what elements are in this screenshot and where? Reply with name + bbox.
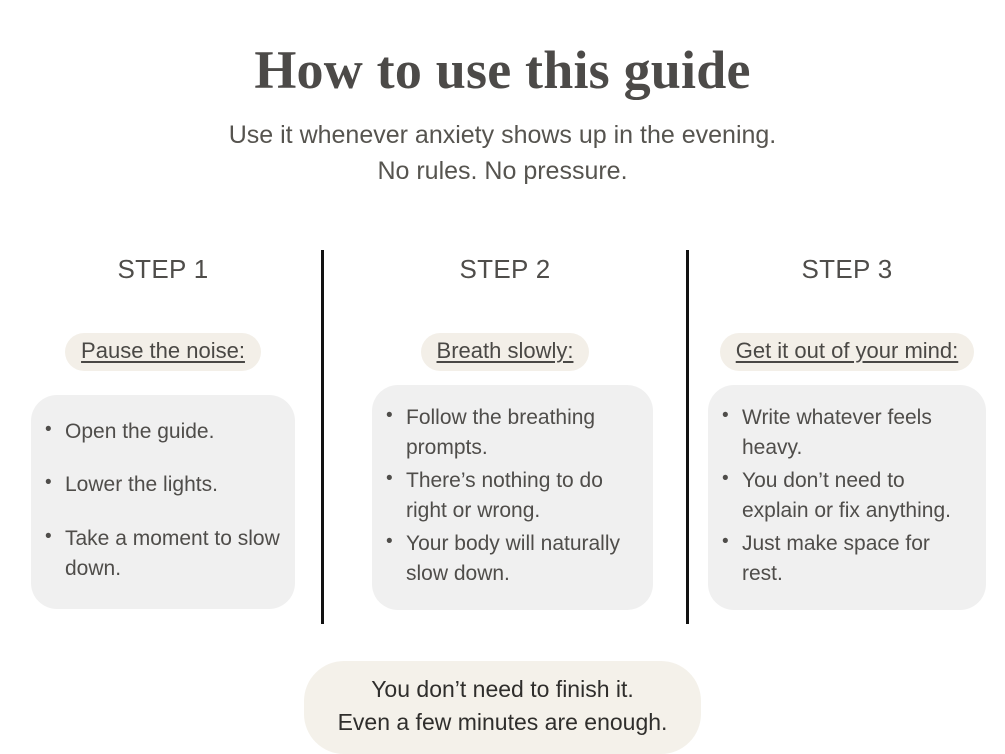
column-divider-1 <box>321 250 324 624</box>
column-divider-2 <box>686 250 689 624</box>
step-3-label: Get it out of your mind: <box>720 333 975 371</box>
list-item: Follow the breathing prompts. <box>406 403 639 464</box>
step-2-label: Breath slowly: <box>421 333 590 371</box>
step-1-list: Open the guide. Lower the lights. Take a… <box>31 417 295 585</box>
step-1-card: Open the guide. Lower the lights. Take a… <box>31 395 295 609</box>
step-column-1: STEP 1 Pause the noise: Open the guide. … <box>8 248 318 609</box>
step-2-label-row: Breath slowly: <box>330 333 680 371</box>
step-1-heading: STEP 1 <box>8 248 318 285</box>
step-2-card: Follow the breathing prompts. There’s no… <box>372 385 653 610</box>
list-item: Take a moment to slow down. <box>65 524 281 585</box>
footer-line-1: You don’t need to finish it. <box>338 673 668 706</box>
footer-section: You don’t need to finish it. Even a few … <box>0 661 1005 754</box>
step-column-3: STEP 3 Get it out of your mind: Write wh… <box>697 248 997 610</box>
footer-line-2: Even a few minutes are enough. <box>338 706 668 739</box>
step-1-label-row: Pause the noise: <box>8 333 318 371</box>
page-subtitle: Use it whenever anxiety shows up in the … <box>0 99 1005 190</box>
step-3-label-row: Get it out of your mind: <box>697 333 997 371</box>
step-1-label: Pause the noise: <box>65 333 261 371</box>
list-item: Write whatever feels heavy. <box>742 403 972 464</box>
step-3-heading: STEP 3 <box>697 248 997 285</box>
step-2-heading: STEP 2 <box>330 248 680 285</box>
step-2-list: Follow the breathing prompts. There’s no… <box>372 403 653 590</box>
subtitle-line-2: No rules. No pressure. <box>0 153 1005 189</box>
guide-page: { "header": { "title": "How to use this … <box>0 0 1005 754</box>
list-item: Lower the lights. <box>65 470 281 500</box>
step-3-list: Write whatever feels heavy. You don’t ne… <box>708 403 986 590</box>
step-3-card: Write whatever feels heavy. You don’t ne… <box>708 385 986 610</box>
list-item: Open the guide. <box>65 417 281 447</box>
list-item: There’s nothing to do right or wrong. <box>406 466 639 527</box>
footer-note: You don’t need to finish it. Even a few … <box>304 661 702 754</box>
subtitle-line-1: Use it whenever anxiety shows up in the … <box>0 117 1005 153</box>
step-column-2: STEP 2 Breath slowly: Follow the breathi… <box>330 248 680 610</box>
page-title: How to use this guide <box>0 0 1005 99</box>
list-item: Just make space for rest. <box>742 529 972 590</box>
list-item: Your body will naturally slow down. <box>406 529 639 590</box>
steps-section: STEP 1 Pause the noise: Open the guide. … <box>0 248 1005 628</box>
list-item: You don’t need to explain or fix anythin… <box>742 466 972 527</box>
